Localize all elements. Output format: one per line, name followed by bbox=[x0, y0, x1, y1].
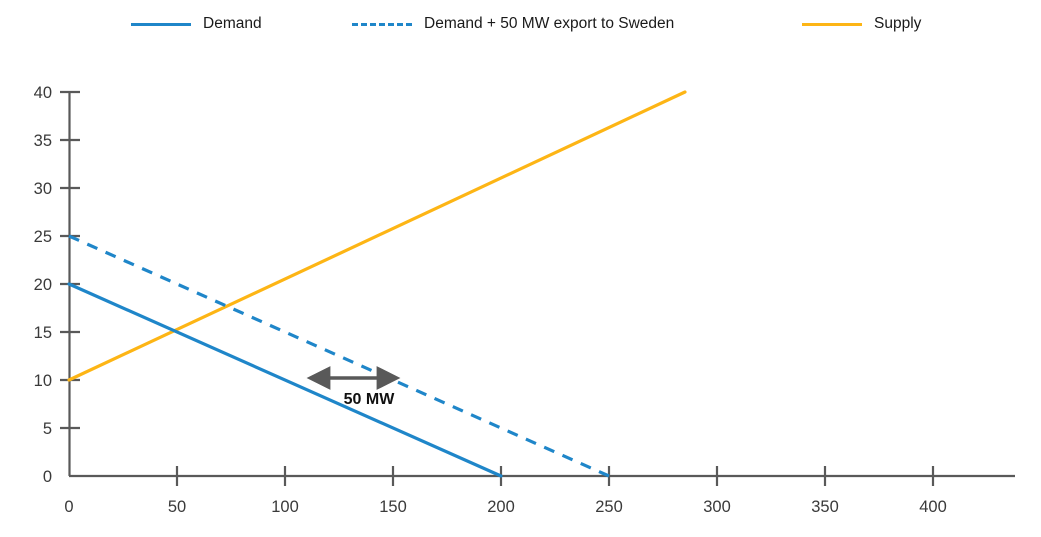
y-tick-label: 10 bbox=[34, 372, 52, 390]
x-tick-label: 0 bbox=[64, 498, 73, 516]
line-dashed-icon bbox=[352, 23, 412, 26]
y-tick-label: 20 bbox=[34, 276, 52, 294]
plot-area: 0 5 10 15 20 25 30 35 40 bbox=[0, 48, 1041, 537]
y-tick-label: 35 bbox=[34, 132, 52, 150]
x-tick-label: 150 bbox=[379, 498, 407, 516]
line-solid-icon bbox=[131, 23, 191, 26]
line-solid-icon bbox=[802, 23, 862, 26]
legend-label-supply: Supply bbox=[874, 14, 921, 34]
chart-legend: Demand Demand + 50 MW export to Sweden S… bbox=[0, 0, 1041, 48]
legend-item-demand[interactable]: Demand bbox=[131, 14, 262, 34]
x-tick-label: 300 bbox=[703, 498, 731, 516]
y-tick-label: 25 bbox=[34, 228, 52, 246]
x-tick-label: 400 bbox=[919, 498, 947, 516]
y-tick-label: 5 bbox=[43, 420, 52, 438]
series-line-demand-plus-export bbox=[69, 236, 609, 476]
legend-label-demand-plus-export: Demand + 50 MW export to Sweden bbox=[424, 14, 674, 34]
chart-container: Demand Demand + 50 MW export to Sweden S… bbox=[0, 0, 1041, 537]
plot-svg: 0 5 10 15 20 25 30 35 40 bbox=[0, 48, 1041, 537]
x-tick-label: 100 bbox=[271, 498, 299, 516]
y-axis-labels: 0 5 10 15 20 25 30 35 40 bbox=[34, 84, 52, 486]
y-tick-label: 40 bbox=[34, 84, 52, 102]
legend-label-demand: Demand bbox=[203, 14, 262, 34]
y-tick-label: 30 bbox=[34, 180, 52, 198]
legend-item-supply[interactable]: Supply bbox=[802, 14, 921, 34]
series-line-supply bbox=[69, 92, 685, 380]
series-line-demand bbox=[69, 284, 501, 476]
x-tick-label: 50 bbox=[168, 498, 186, 516]
x-tick-label: 200 bbox=[487, 498, 515, 516]
y-tick-label: 15 bbox=[34, 324, 52, 342]
x-tick-label: 250 bbox=[595, 498, 623, 516]
y-tick-label: 0 bbox=[43, 468, 52, 486]
annotation-label-50mw: 50 MW bbox=[344, 391, 396, 408]
legend-item-demand-plus-export[interactable]: Demand + 50 MW export to Sweden bbox=[352, 14, 674, 34]
x-tick-label: 350 bbox=[811, 498, 839, 516]
x-axis-labels: 0 50 100 150 200 250 300 350 400 bbox=[64, 498, 946, 516]
